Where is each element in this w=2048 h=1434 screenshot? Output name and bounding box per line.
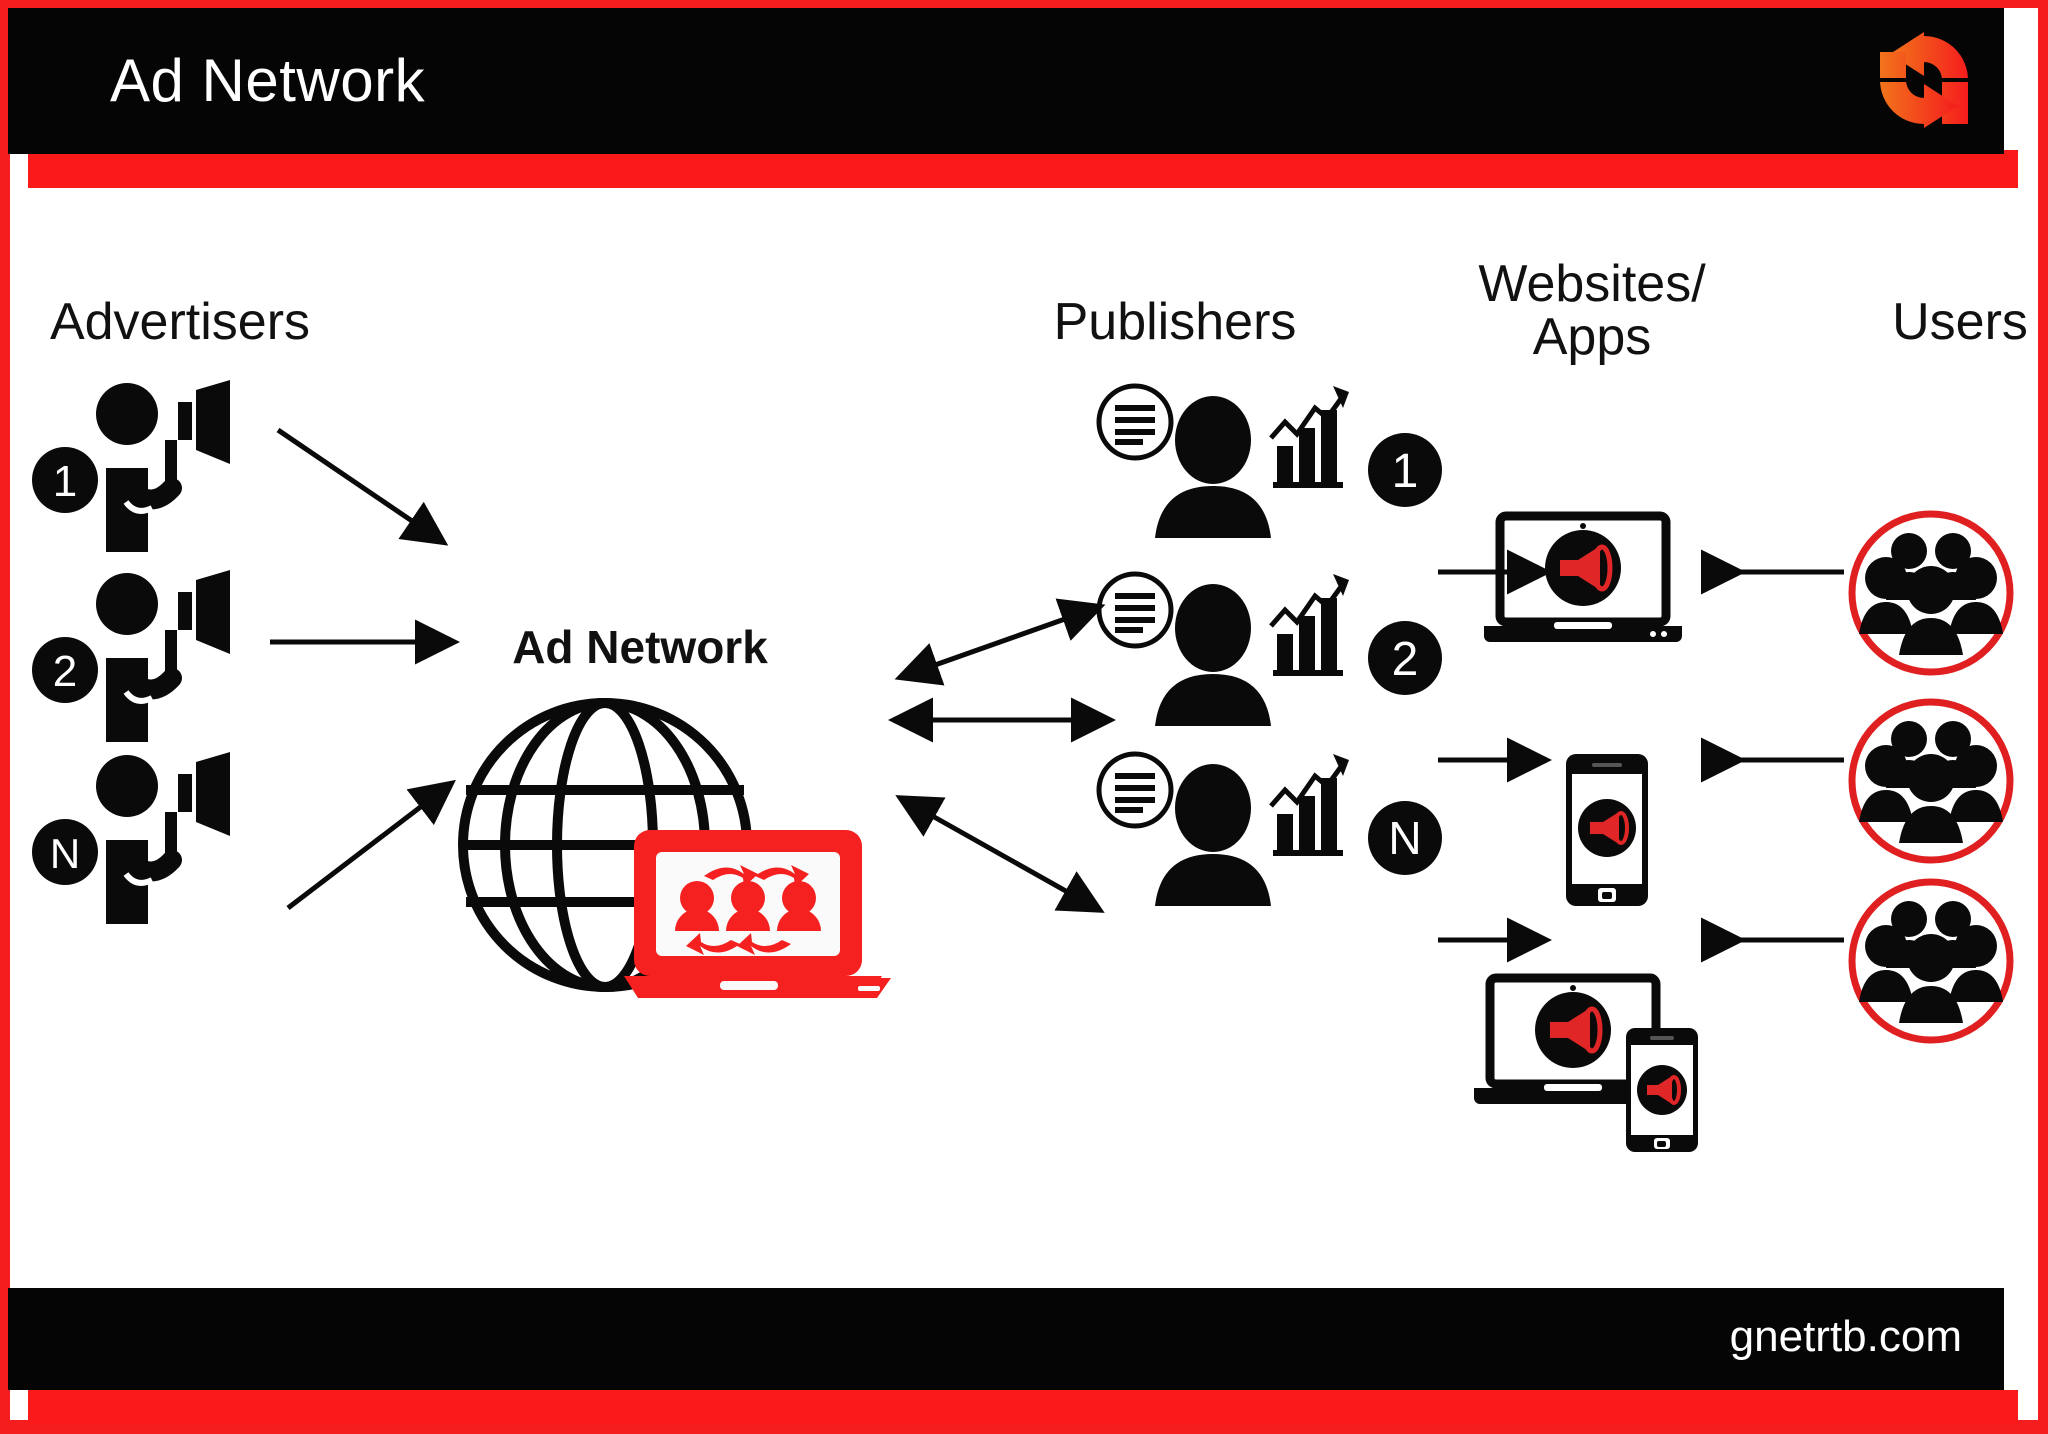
publisher-row-3: N bbox=[1095, 748, 1475, 908]
person-megaphone-icon bbox=[96, 752, 230, 924]
column-label-publishers: Publishers bbox=[1000, 296, 1350, 349]
document-circle-icon bbox=[1099, 754, 1171, 826]
footer-website: gnetrtb.com bbox=[1730, 1312, 1962, 1362]
arrow-publisher-n-to-device bbox=[1438, 920, 1558, 960]
laptop-network-people-icon bbox=[622, 826, 892, 1016]
arrow-advertiser-1-to-network bbox=[270, 420, 470, 620]
advertiser-badge-label-2: 2 bbox=[53, 647, 77, 696]
person-megaphone-icon bbox=[96, 380, 230, 552]
arrow-users-3-to-device bbox=[1726, 920, 1856, 960]
publisher-row-2: 2 bbox=[1095, 568, 1475, 728]
arrow-network-to-publisher-n bbox=[890, 790, 1110, 920]
column-label-advertisers: Advertisers bbox=[10, 296, 350, 349]
advertiser-row-1: 1 bbox=[30, 380, 290, 560]
frame-top-edge bbox=[0, 0, 2048, 8]
arrow-publisher-2-to-device bbox=[1438, 740, 1558, 780]
publisher-badge-label-1: 1 bbox=[1392, 445, 1419, 498]
laptop-ad-icon bbox=[1478, 510, 1698, 650]
user-group-circle-icon bbox=[1846, 876, 2016, 1046]
device-row-2 bbox=[1552, 750, 1662, 910]
page-title: Ad Network bbox=[110, 46, 425, 115]
publisher-row-1: 1 bbox=[1095, 380, 1475, 540]
device-row-1 bbox=[1478, 510, 1698, 650]
user-group-circle-icon bbox=[1846, 696, 2016, 866]
publisher-badge-label-n: N bbox=[1388, 812, 1421, 864]
header-red-bar bbox=[28, 150, 2018, 188]
frame-right-edge bbox=[2038, 0, 2048, 1434]
column-label-users: Users bbox=[1810, 296, 2048, 349]
user-group-circle-icon bbox=[1846, 508, 2016, 678]
column-label-websites-apps: Websites/ Apps bbox=[1412, 258, 1772, 364]
person-megaphone-icon bbox=[96, 570, 230, 742]
users-row-2 bbox=[1846, 696, 2016, 866]
users-row-1 bbox=[1846, 508, 2016, 678]
bar-chart-growth-icon bbox=[1271, 754, 1349, 856]
arrow-network-to-publisher-2 bbox=[890, 610, 1120, 730]
footer-bar bbox=[8, 1288, 2004, 1390]
arrow-advertiser-2-to-network bbox=[270, 612, 470, 672]
advertiser-badge-label-n: N bbox=[50, 830, 80, 877]
users-row-3 bbox=[1846, 876, 2016, 1046]
advertiser-row-3: N bbox=[30, 752, 290, 932]
bar-chart-growth-icon bbox=[1271, 574, 1349, 676]
bar-chart-growth-icon bbox=[1271, 386, 1349, 488]
arrow-advertiser-n-to-network bbox=[280, 760, 480, 920]
frame-left-edge bbox=[0, 0, 10, 1434]
refresh-cycle-logo-icon bbox=[1870, 28, 1978, 132]
arrow-users-1-to-device bbox=[1726, 552, 1856, 592]
document-circle-icon bbox=[1099, 574, 1171, 646]
advertiser-badge-label-1: 1 bbox=[53, 457, 77, 506]
document-circle-icon bbox=[1099, 386, 1171, 458]
arrow-users-2-to-device bbox=[1726, 740, 1856, 780]
slide-root: Ad Network Advertisers Publishers Websit… bbox=[0, 0, 2048, 1434]
advertiser-row-2: 2 bbox=[30, 570, 290, 750]
footer-red-bar bbox=[28, 1390, 2018, 1424]
phone-ad-icon bbox=[1552, 750, 1662, 910]
phone-ad-icon bbox=[1626, 1028, 1698, 1152]
device-row-3 bbox=[1468, 972, 1718, 1152]
publisher-badge-label-2: 2 bbox=[1392, 633, 1419, 686]
ad-network-center-label: Ad Network bbox=[450, 620, 830, 674]
